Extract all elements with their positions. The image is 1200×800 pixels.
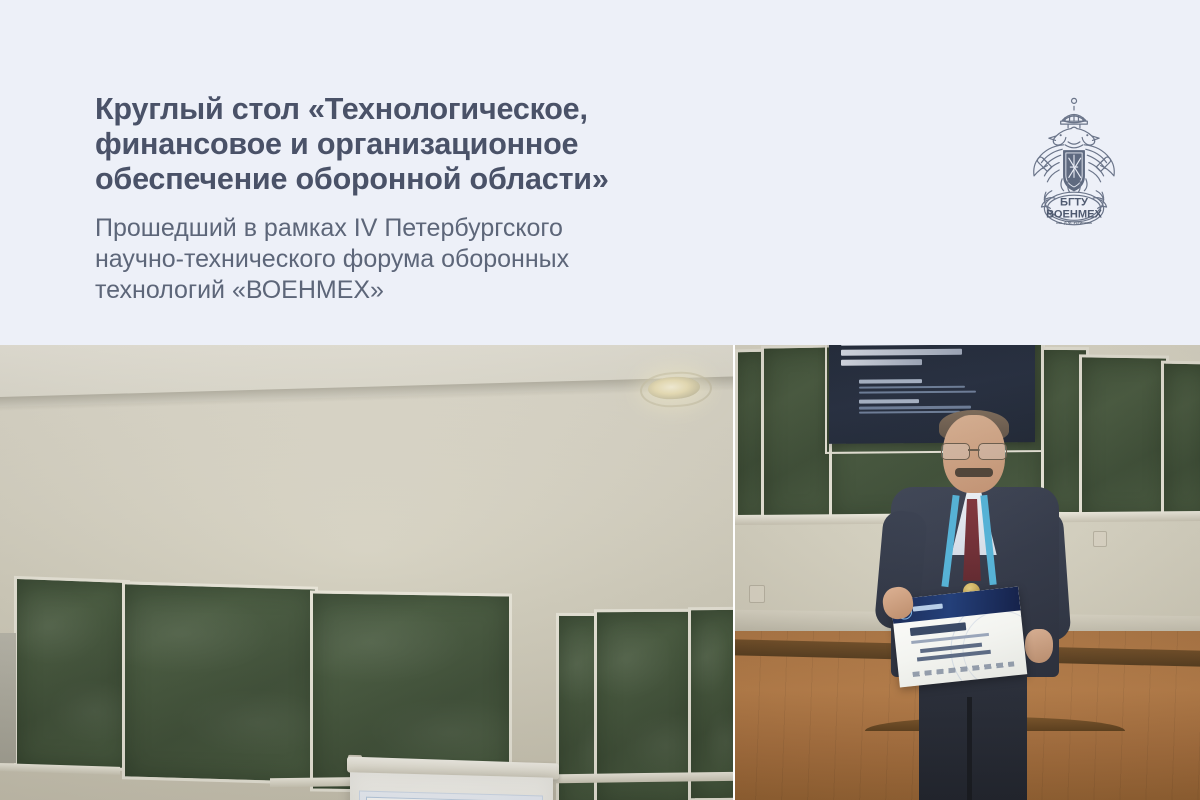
participant-hand (1025, 629, 1053, 663)
wall-socket (749, 585, 765, 603)
projector-screen (350, 772, 553, 800)
double-headed-eagle-icon: БГТУ ВОЕНМЕХ им. Д.Ф. Устинова (1000, 96, 1148, 244)
participant-moustache (955, 468, 993, 477)
page-subtitle: Прошедший в рамках IV Петербургского нау… (95, 197, 755, 306)
certificate-header-text (913, 604, 943, 612)
chalkboard-panel (1161, 361, 1200, 520)
logo-line-2: ВОЕНМЕХ (1046, 208, 1102, 220)
photo-lecture-hall-speaker: acer (0, 345, 733, 800)
chalkboard-panel (594, 609, 698, 800)
side-door (0, 633, 16, 763)
header-banner: Круглый стол «Технологическое, финансово… (0, 0, 1200, 345)
participant-person (885, 415, 1065, 800)
projected-slide (359, 790, 543, 800)
header-text-block: Круглый стол «Технологическое, финансово… (95, 92, 755, 306)
participant-glasses-icon (941, 443, 1007, 458)
chalkboard-panel (1079, 354, 1169, 519)
photo-strip: acer (0, 345, 1200, 800)
chalkboard-panel (122, 581, 318, 784)
photo-participant-with-certificate (735, 345, 1200, 800)
logo-line-1: БГТУ (1060, 197, 1088, 209)
bstu-voenmeh-logo: БГТУ ВОЕНМЕХ им. Д.Ф. Устинова (1000, 96, 1148, 244)
page-title: Круглый стол «Технологическое, финансово… (95, 92, 755, 197)
wall-socket (1093, 531, 1107, 547)
chalkboard-panel (14, 576, 130, 771)
trouser-seam (967, 697, 972, 800)
page-root: Круглый стол «Технологическое, финансово… (0, 0, 1200, 800)
logo-line-3: им. Д.Ф. Устинова (1056, 220, 1092, 225)
